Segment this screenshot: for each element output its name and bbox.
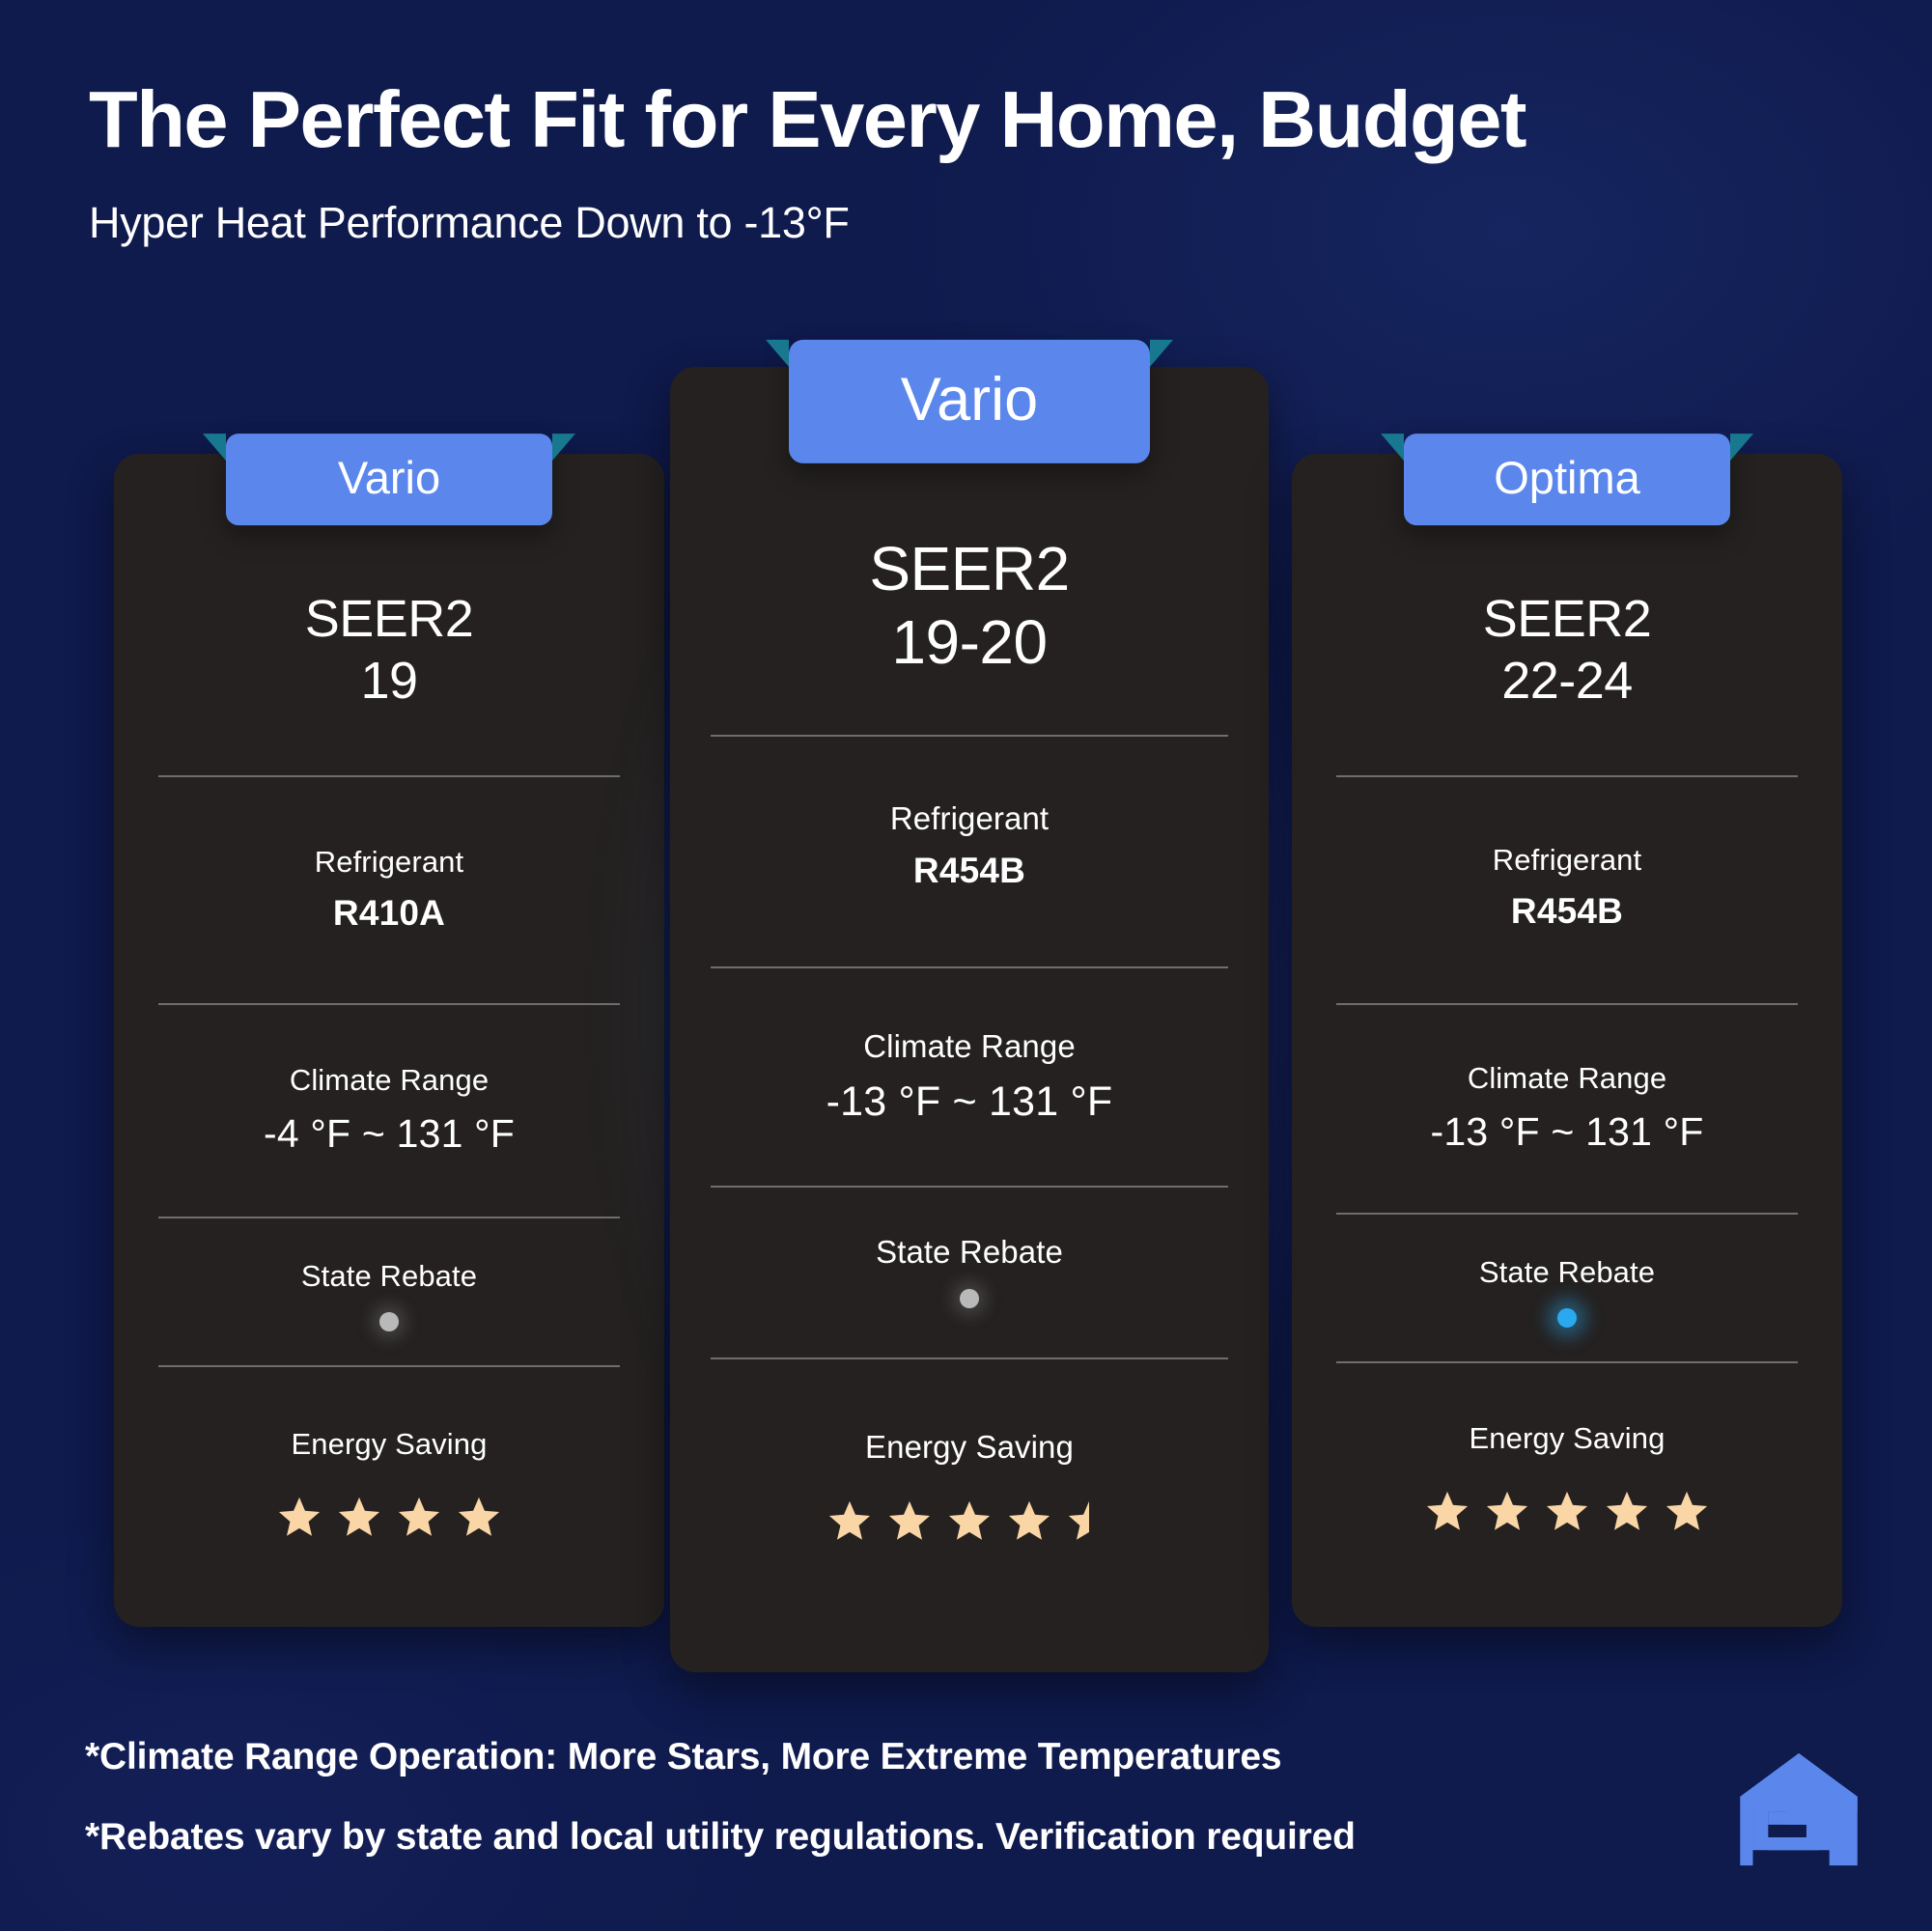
star-full-icon bbox=[1605, 1489, 1649, 1533]
climate-label-2: Climate Range bbox=[711, 1028, 1228, 1065]
page-title: The Perfect Fit for Every Home, Budget bbox=[89, 77, 1827, 161]
climate-row-2: Climate Range -13 °F ~ 131 °F bbox=[711, 1028, 1228, 1126]
star-full-icon bbox=[1665, 1489, 1709, 1533]
seer-block-3: SEER2 22-24 bbox=[1336, 589, 1798, 712]
seer-block-2: SEER2 19-20 bbox=[711, 533, 1228, 679]
refrigerant-label-1: Refrigerant bbox=[158, 845, 620, 880]
ribbon-label-1: Vario bbox=[338, 452, 440, 503]
plan-card-vario-19[interactable]: Vario SEER2 19 Refrigerant R410A Climate… bbox=[114, 454, 664, 1627]
ribbon-fold-left-icon bbox=[203, 434, 226, 461]
star-full-icon bbox=[337, 1495, 381, 1539]
divider-3-b bbox=[1336, 1003, 1798, 1005]
refrigerant-label-3: Refrigerant bbox=[1336, 843, 1798, 878]
seer-value-1: 19 bbox=[158, 651, 620, 713]
divider-3-a bbox=[1336, 775, 1798, 777]
ribbon-label-3: Optima bbox=[1494, 452, 1640, 503]
rebate-row-3: State Rebate bbox=[1336, 1255, 1798, 1346]
star-full-icon bbox=[1425, 1489, 1470, 1533]
rebate-indicator-wrap-1 bbox=[158, 1294, 620, 1350]
rebate-dot-icon-3 bbox=[1557, 1308, 1577, 1328]
rebate-indicator-wrap-2 bbox=[711, 1271, 1228, 1327]
rebate-dot-icon-1 bbox=[379, 1312, 399, 1331]
seer-block-1: SEER2 19 bbox=[158, 589, 620, 712]
climate-value-1: -4 °F ~ 131 °F bbox=[158, 1111, 620, 1157]
star-full-icon bbox=[277, 1495, 322, 1539]
ribbon-fold-left-icon bbox=[1381, 434, 1404, 461]
plan-card-vario-19-20[interactable]: Vario SEER2 19-20 Refrigerant R454B Clim… bbox=[670, 367, 1269, 1672]
energy-label-2: Energy Saving bbox=[711, 1429, 1228, 1466]
refrigerant-row-1: Refrigerant R410A bbox=[158, 845, 620, 934]
divider-2-b bbox=[711, 966, 1228, 968]
rebate-label-1: State Rebate bbox=[158, 1259, 620, 1294]
energy-row-1: Energy Saving bbox=[158, 1427, 620, 1539]
refrigerant-value-2: R454B bbox=[711, 851, 1228, 891]
card-ribbon-3[interactable]: Optima bbox=[1404, 434, 1730, 525]
refrigerant-label-2: Refrigerant bbox=[711, 800, 1228, 837]
infographic-canvas: The Perfect Fit for Every Home, Budget H… bbox=[0, 0, 1932, 1931]
plan-card-optima[interactable]: Optima SEER2 22-24 Refrigerant R454B Cli… bbox=[1292, 454, 1842, 1627]
ribbon-fold-right-icon bbox=[552, 434, 575, 461]
footer-notes: *Climate Range Operation: More Stars, Mo… bbox=[85, 1738, 1726, 1856]
star-full-icon bbox=[827, 1498, 872, 1543]
house-logo-icon bbox=[1735, 1746, 1862, 1873]
divider-2-a bbox=[711, 735, 1228, 737]
rebate-label-2: State Rebate bbox=[711, 1234, 1228, 1271]
footnote-rebates: *Rebates vary by state and local utility… bbox=[85, 1818, 1726, 1856]
rebate-label-3: State Rebate bbox=[1336, 1255, 1798, 1290]
seer-label-2: SEER2 bbox=[711, 533, 1228, 606]
page-subtitle: Hyper Heat Performance Down to -13°F bbox=[89, 198, 1827, 248]
seer-value-2: 19-20 bbox=[711, 606, 1228, 680]
energy-stars-1 bbox=[158, 1495, 620, 1539]
star-full-icon bbox=[457, 1495, 501, 1539]
rebate-row-1: State Rebate bbox=[158, 1259, 620, 1350]
comparison-cards: Vario SEER2 19 Refrigerant R410A Climate… bbox=[0, 367, 1932, 1699]
divider-1-a bbox=[158, 775, 620, 777]
card-slot-1: Vario SEER2 19 Refrigerant R410A Climate… bbox=[114, 367, 664, 1627]
energy-label-1: Energy Saving bbox=[158, 1427, 620, 1462]
ribbon-fold-right-icon bbox=[1730, 434, 1753, 461]
energy-label-3: Energy Saving bbox=[1336, 1421, 1798, 1456]
climate-row-1: Climate Range -4 °F ~ 131 °F bbox=[158, 1063, 620, 1157]
climate-value-2: -13 °F ~ 131 °F bbox=[711, 1078, 1228, 1126]
rebate-dot-icon-2 bbox=[960, 1289, 979, 1308]
seer-label-3: SEER2 bbox=[1336, 589, 1798, 651]
divider-3-c bbox=[1336, 1213, 1798, 1215]
star-half-icon bbox=[1067, 1498, 1111, 1543]
star-full-icon bbox=[1007, 1498, 1051, 1543]
energy-stars-3 bbox=[1336, 1489, 1798, 1533]
climate-label-3: Climate Range bbox=[1336, 1061, 1798, 1096]
refrigerant-row-3: Refrigerant R454B bbox=[1336, 843, 1798, 932]
card-slot-3: Optima SEER2 22-24 Refrigerant R454B Cli… bbox=[1292, 367, 1842, 1627]
climate-value-3: -13 °F ~ 131 °F bbox=[1336, 1109, 1798, 1155]
divider-1-c bbox=[158, 1217, 620, 1218]
seer-label-1: SEER2 bbox=[158, 589, 620, 651]
star-full-icon bbox=[947, 1498, 992, 1543]
seer-value-3: 22-24 bbox=[1336, 651, 1798, 713]
star-full-icon bbox=[1485, 1489, 1529, 1533]
card-ribbon-1[interactable]: Vario bbox=[226, 434, 552, 525]
star-full-icon bbox=[397, 1495, 441, 1539]
rebate-row-2: State Rebate bbox=[711, 1234, 1228, 1327]
refrigerant-row-2: Refrigerant R454B bbox=[711, 800, 1228, 891]
ribbon-label-2: Vario bbox=[901, 366, 1038, 434]
ribbon-fold-right-icon bbox=[1150, 340, 1173, 367]
card-slot-2: Vario SEER2 19-20 Refrigerant R454B Clim… bbox=[670, 367, 1269, 1672]
ribbon-fold-left-icon bbox=[766, 340, 789, 367]
footnote-climate: *Climate Range Operation: More Stars, Mo… bbox=[85, 1738, 1726, 1776]
energy-stars-2 bbox=[711, 1498, 1228, 1543]
header: The Perfect Fit for Every Home, Budget H… bbox=[89, 77, 1827, 248]
divider-3-d bbox=[1336, 1361, 1798, 1363]
star-full-icon bbox=[887, 1498, 932, 1543]
divider-1-d bbox=[158, 1365, 620, 1367]
divider-1-b bbox=[158, 1003, 620, 1005]
card-ribbon-2[interactable]: Vario bbox=[789, 340, 1150, 463]
energy-row-3: Energy Saving bbox=[1336, 1421, 1798, 1533]
star-full-icon bbox=[1545, 1489, 1589, 1533]
energy-row-2: Energy Saving bbox=[711, 1429, 1228, 1543]
divider-2-d bbox=[711, 1357, 1228, 1359]
refrigerant-value-3: R454B bbox=[1336, 891, 1798, 932]
refrigerant-value-1: R410A bbox=[158, 893, 620, 934]
climate-row-3: Climate Range -13 °F ~ 131 °F bbox=[1336, 1061, 1798, 1155]
rebate-indicator-wrap-3 bbox=[1336, 1290, 1798, 1346]
climate-label-1: Climate Range bbox=[158, 1063, 620, 1098]
divider-2-c bbox=[711, 1186, 1228, 1188]
